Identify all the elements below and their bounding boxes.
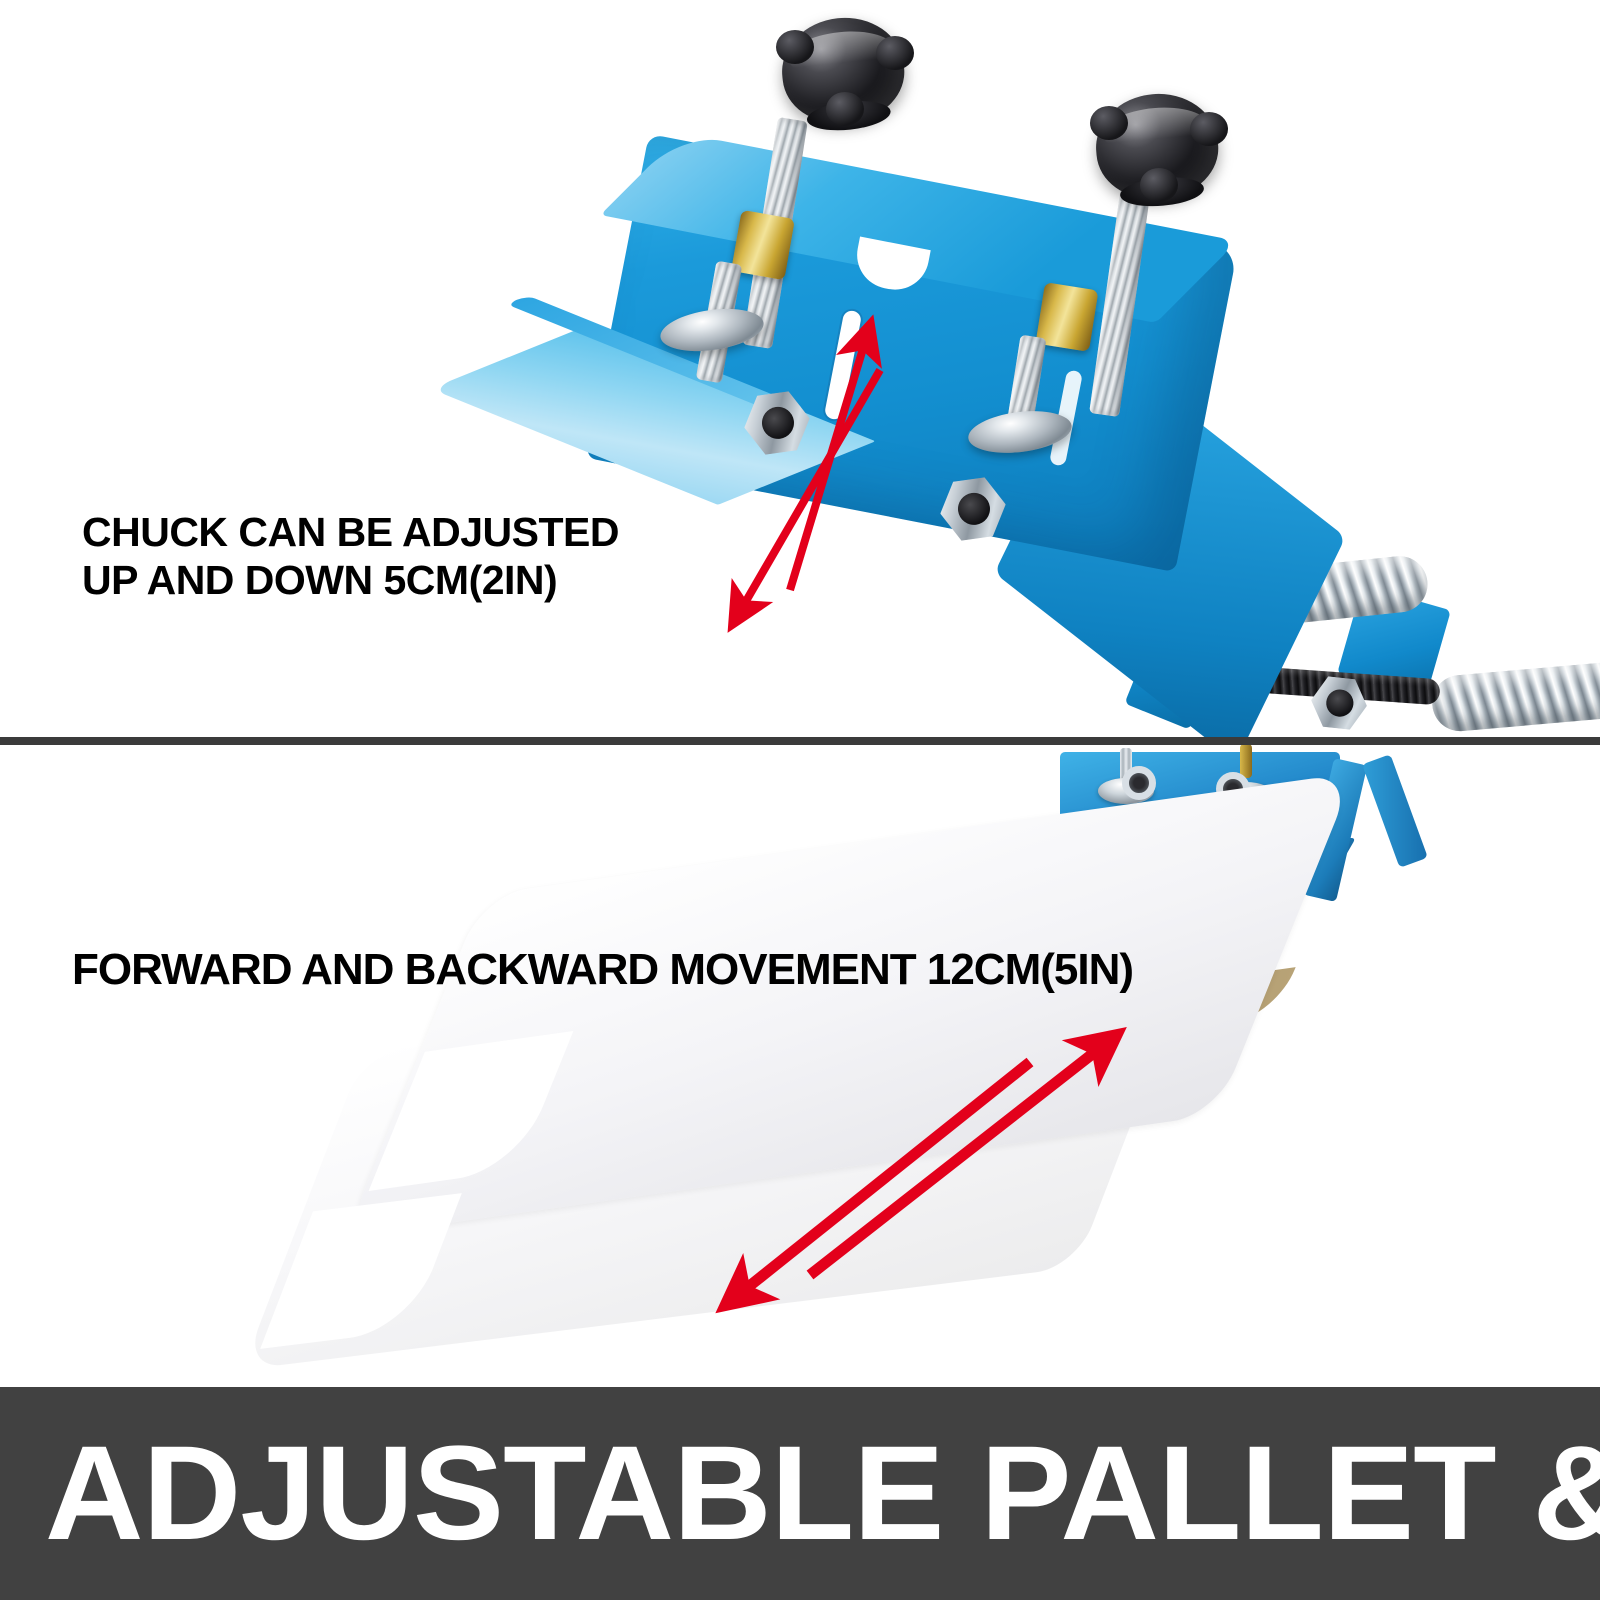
left-knob-lobe-b xyxy=(876,36,914,70)
bracket-stud-right xyxy=(1240,744,1252,778)
forward-backward-movement-arrow xyxy=(700,1000,1140,1300)
product-title-banner: ADJUSTABLE PALLET & CLAMP xyxy=(0,1387,1600,1600)
product-title-text: ADJUSTABLE PALLET & CLAMP xyxy=(0,1417,1600,1570)
right-knob-lobe-a xyxy=(1090,106,1128,140)
right-coil-spring xyxy=(1430,659,1600,734)
chuck-adjustment-caption: CHUCK CAN BE ADJUSTED UP AND DOWN 5CM(2I… xyxy=(82,508,619,605)
bracket-ring-left xyxy=(1122,766,1156,800)
product-feature-image: CHUCK CAN BE ADJUSTED UP AND DOWN 5CM(2I… xyxy=(0,0,1600,1600)
arrow-backward-stroke xyxy=(742,1062,1030,1292)
left-knob-lobe-c xyxy=(826,92,864,126)
arrow-forward-stroke xyxy=(810,1048,1100,1275)
pallet-movement-caption: FORWARD AND BACKWARD MOVEMENT 12CM(5IN) xyxy=(72,944,1133,996)
panel-divider xyxy=(0,737,1600,745)
arrow-down-stroke xyxy=(742,370,880,608)
left-knob-lobe-a xyxy=(776,30,814,64)
right-knob-lobe-c xyxy=(1140,168,1178,202)
up-down-movement-arrow xyxy=(690,300,990,630)
right-knob-lobe-b xyxy=(1190,112,1228,146)
chuck-adjustment-panel: CHUCK CAN BE ADJUSTED UP AND DOWN 5CM(2I… xyxy=(0,0,1600,737)
